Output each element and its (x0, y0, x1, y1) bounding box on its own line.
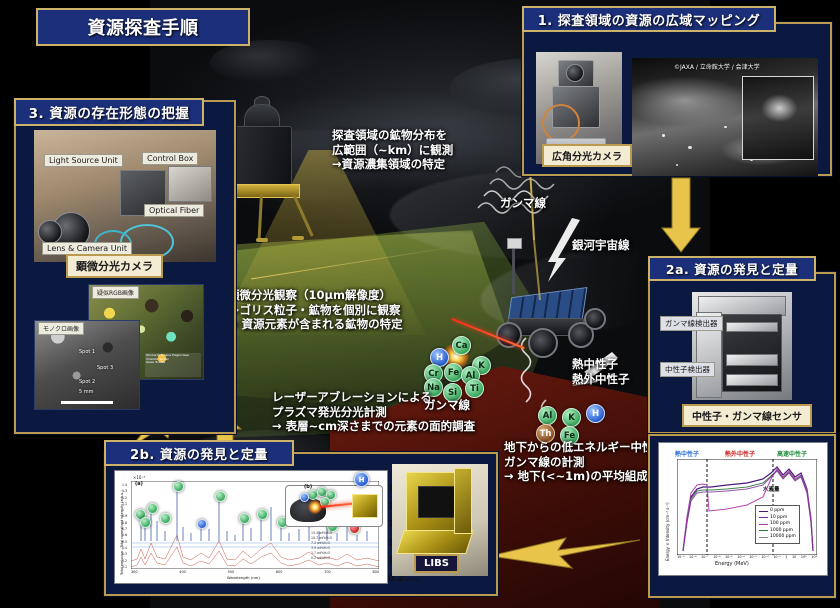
ytick: 1.2 (122, 496, 127, 500)
peak-marker (197, 519, 207, 529)
libs-subplot-b-label: (b) (304, 484, 312, 490)
panel-1-title: 1. 探査領域の資源の広域マッピング (522, 6, 776, 32)
xtick: 400 (179, 570, 185, 574)
xtick: 10 (792, 555, 796, 559)
panel-2a-title: 2a. 資源の発見と定量 (648, 256, 816, 281)
peak-marker (160, 513, 171, 524)
label-light-source-unit: Light Source Unit (44, 154, 123, 167)
zone-epithermal-neutron: 熱外中性子 (725, 449, 755, 458)
photo-credit: ©JAXA / 立命館大学 / 会津大学 (674, 62, 760, 71)
ytick: 0.5 (122, 540, 127, 544)
xtick: 10⁻⁹ (677, 555, 684, 559)
caption-wide-angle-camera: 広角分光カメラ (542, 144, 632, 167)
surface-speck (688, 146, 692, 149)
zone-thermal-neutron: 熱中性子 (675, 449, 699, 458)
xtick: 10⁻⁴ (737, 555, 744, 559)
scale-label: 5 mm (79, 389, 94, 395)
xtick: 500 (228, 570, 234, 574)
caption-micro-spectral-camera: 顕微分光カメラ (66, 254, 163, 278)
lander-body (232, 126, 292, 186)
libs-peak-marker-hydrogen: H (354, 472, 369, 487)
legend-swatch (759, 517, 768, 518)
neutron-chart-xlabel: Energy (MeV) (715, 561, 749, 567)
caption-libs: LIBS (414, 554, 459, 573)
xtick: 10⁻⁸ (689, 555, 696, 559)
neutron-chart-ylabel: Energy × Intensity (cm⁻² s⁻¹) (665, 502, 670, 561)
label-optical-fiber: Optical Fiber (144, 204, 204, 217)
ytick: 0.2 (122, 559, 127, 563)
lander-foot (292, 236, 304, 240)
libs-aperture (418, 486, 458, 518)
annotation-microscope: 顕微分光観察（10μm解像度） レゴリス粒子・鉱物を個別に観察 → 資源元素が含… (228, 288, 403, 332)
mineral-legend-overlay: Olivine Pyroxene PlagioclaseIlmenite Spi… (145, 353, 201, 377)
xtick: 600 (276, 570, 282, 574)
libs-chart-yscale: ×10⁻³ (133, 475, 145, 480)
ytick: 1.1 (122, 502, 127, 506)
lander-foot (256, 238, 268, 242)
libs-chart-xlabel: Wavelength (nm) (227, 575, 260, 580)
lander-leg (258, 194, 263, 240)
ytick: 1.4 (122, 483, 127, 487)
legend-swatch (759, 530, 768, 531)
label-pseudo-rgb-image: 疑似RGB画像 (92, 286, 139, 299)
label-thermal-neutron: 熱中性子 熱外中性子 (572, 357, 630, 386)
peak-marker (173, 481, 184, 492)
sensor-module (726, 322, 778, 332)
label-neutron-detector: 中性子検出器 (660, 362, 715, 377)
page-title: 資源探査手順 (36, 8, 250, 46)
spot-label-3: Spot 3 (97, 365, 113, 371)
control-box-unit (168, 166, 212, 202)
ytick: 0.7 (122, 527, 127, 531)
panel-1-wide-mapping: 広角分光カメラ ©JAXA / 立命館大学 / 会津大学 (522, 22, 832, 176)
label-monochrome-image: モノクロ画像 (38, 322, 84, 335)
rover-wheel (528, 328, 558, 358)
spot-label-2: Spot 2 (79, 379, 95, 385)
panel-3-title: 3. 資源の存在形態の把握 (14, 98, 204, 126)
xtick: 10⁻⁶ (713, 555, 720, 559)
zone-fast-neutron: 高速中性子 (777, 449, 807, 458)
rover (480, 278, 610, 364)
spot-label-1: Spot 1 (79, 349, 95, 355)
rover-wheel (584, 308, 606, 330)
panel-2b-libs: Total emission - Total normalized intens… (104, 452, 498, 596)
libs-chart-yticks: 0.1 0.2 0.3 0.4 0.5 0.6 0.7 0.8 0.9 1 1.… (122, 483, 127, 569)
panel-2b-title: 2b. 資源の発見と定量 (104, 440, 294, 466)
microscope-lab-photo: Light Source Unit Control Box Optical Fi… (34, 130, 216, 262)
label-gamma-ray-lower: ガンマ線 (424, 398, 470, 413)
peak-marker (215, 491, 226, 502)
rover-mast (512, 244, 515, 294)
element-bubble-al-sub: Al (538, 406, 557, 425)
legend-item: 10000 ppm (759, 534, 796, 541)
element-bubble-k-sub: K (562, 408, 581, 427)
legend-swatch (759, 511, 768, 512)
xtick: 10³ (811, 555, 817, 559)
libs-subplot-b: (b) H (302, 482, 386, 580)
xtick: 10⁻⁷ (701, 555, 708, 559)
label-galactic-cosmic-ray: 銀河宇宙線 (572, 238, 630, 253)
xtick: 300 (131, 570, 137, 574)
camera-lens (566, 64, 584, 82)
neutron-chart-legend: 0 ppm 10 ppm 100 ppm 1000 ppm 10000 ppm (755, 505, 800, 544)
libs-instrument-photo: LIBS (392, 464, 488, 576)
rover-mast-camera (507, 238, 522, 249)
neutron-chart-xticks: 10⁻⁹ 10⁻⁸ 10⁻⁷ 10⁻⁶ 10⁻⁵ 10⁻⁴ 10⁻³ 10⁻² … (677, 555, 817, 559)
ytick: 0.9 (122, 514, 127, 518)
element-bubble-ca: Ca (452, 336, 471, 355)
lunar-surface-inset-photo (742, 76, 814, 160)
callout-unit: wt%H₂O (404, 577, 420, 582)
surface-speck (724, 126, 727, 128)
peak-marker (239, 513, 250, 524)
sensor-module (726, 374, 778, 386)
legend-swatch (759, 524, 768, 525)
label-gamma-ray-upper: ガンマ線 (500, 196, 546, 211)
caption-neutron-gamma-sensor: 中性子・ガンマ線センサ (682, 404, 812, 427)
label-control-box: Control Box (142, 152, 198, 165)
slide-canvas: H Ca Cr K Fe Al Na Ti Si Al K H Th Fe 探査… (0, 0, 840, 608)
xtick: 10² (801, 555, 807, 559)
xtick: 10⁻² (761, 555, 768, 559)
neutron-gamma-sensor-photo (692, 292, 792, 400)
camera-unit (38, 220, 62, 244)
element-bubble-h-sub: H (586, 404, 605, 423)
xtick: 10⁻⁵ (725, 555, 732, 559)
legend-swatch (759, 537, 768, 538)
xtick: 10⁻³ (749, 555, 756, 559)
crater (210, 40, 330, 86)
ytick: 0.8 (122, 521, 127, 525)
panel-neutron-chart: Energy × Intensity (cm⁻² s⁻¹) 熱中性子 熱外中性子… (648, 434, 836, 598)
ytick: 1 (122, 508, 127, 512)
legend-label: 10000 ppm (770, 534, 796, 541)
ytick: 1.3 (122, 489, 127, 493)
element-bubble-fe: Fe (444, 363, 463, 382)
surface-speck (662, 134, 665, 137)
sensor-module (726, 354, 778, 366)
peak-marker (147, 503, 158, 514)
xtick: 10⁻¹ (773, 555, 780, 559)
panel-3-mineral-form: Light Source Unit Control Box Optical Fi… (14, 100, 236, 434)
surface-speck (676, 164, 678, 166)
xtick: 1 (785, 555, 787, 559)
label-gamma-detector: ガンマ線検出器 (660, 316, 723, 331)
libs-gold-side (454, 468, 472, 534)
ytick: 0.1 (122, 565, 127, 569)
cable-coil (542, 104, 580, 142)
lunar-surface-photo: ©JAXA / 立命館大学 / 会津大学 (632, 58, 818, 176)
panel-2a-neutron-gamma: ガンマ線検出器 中性子検出器 中性子・ガンマ線センサ (648, 272, 836, 434)
annotation-mapping: 探査領域の鉱物分布を 広範囲（~km）に観測 →資源濃集領域の特定 (332, 128, 453, 172)
annotation-neutron: 地下からの低エネルギー中性子 ガンマ線の計測 → 地下(<~1m)の平均組成 (504, 440, 665, 484)
neutron-spectrum-chart: Energy × Intensity (cm⁻² s⁻¹) 熱中性子 熱外中性子… (658, 442, 828, 576)
ytick: 0.3 (122, 552, 127, 556)
peak-marker (257, 509, 268, 520)
scale-bar (61, 401, 113, 404)
peak-marker (140, 517, 151, 528)
ytick: 0.4 (122, 546, 127, 550)
ytick: 0.6 (122, 533, 127, 537)
